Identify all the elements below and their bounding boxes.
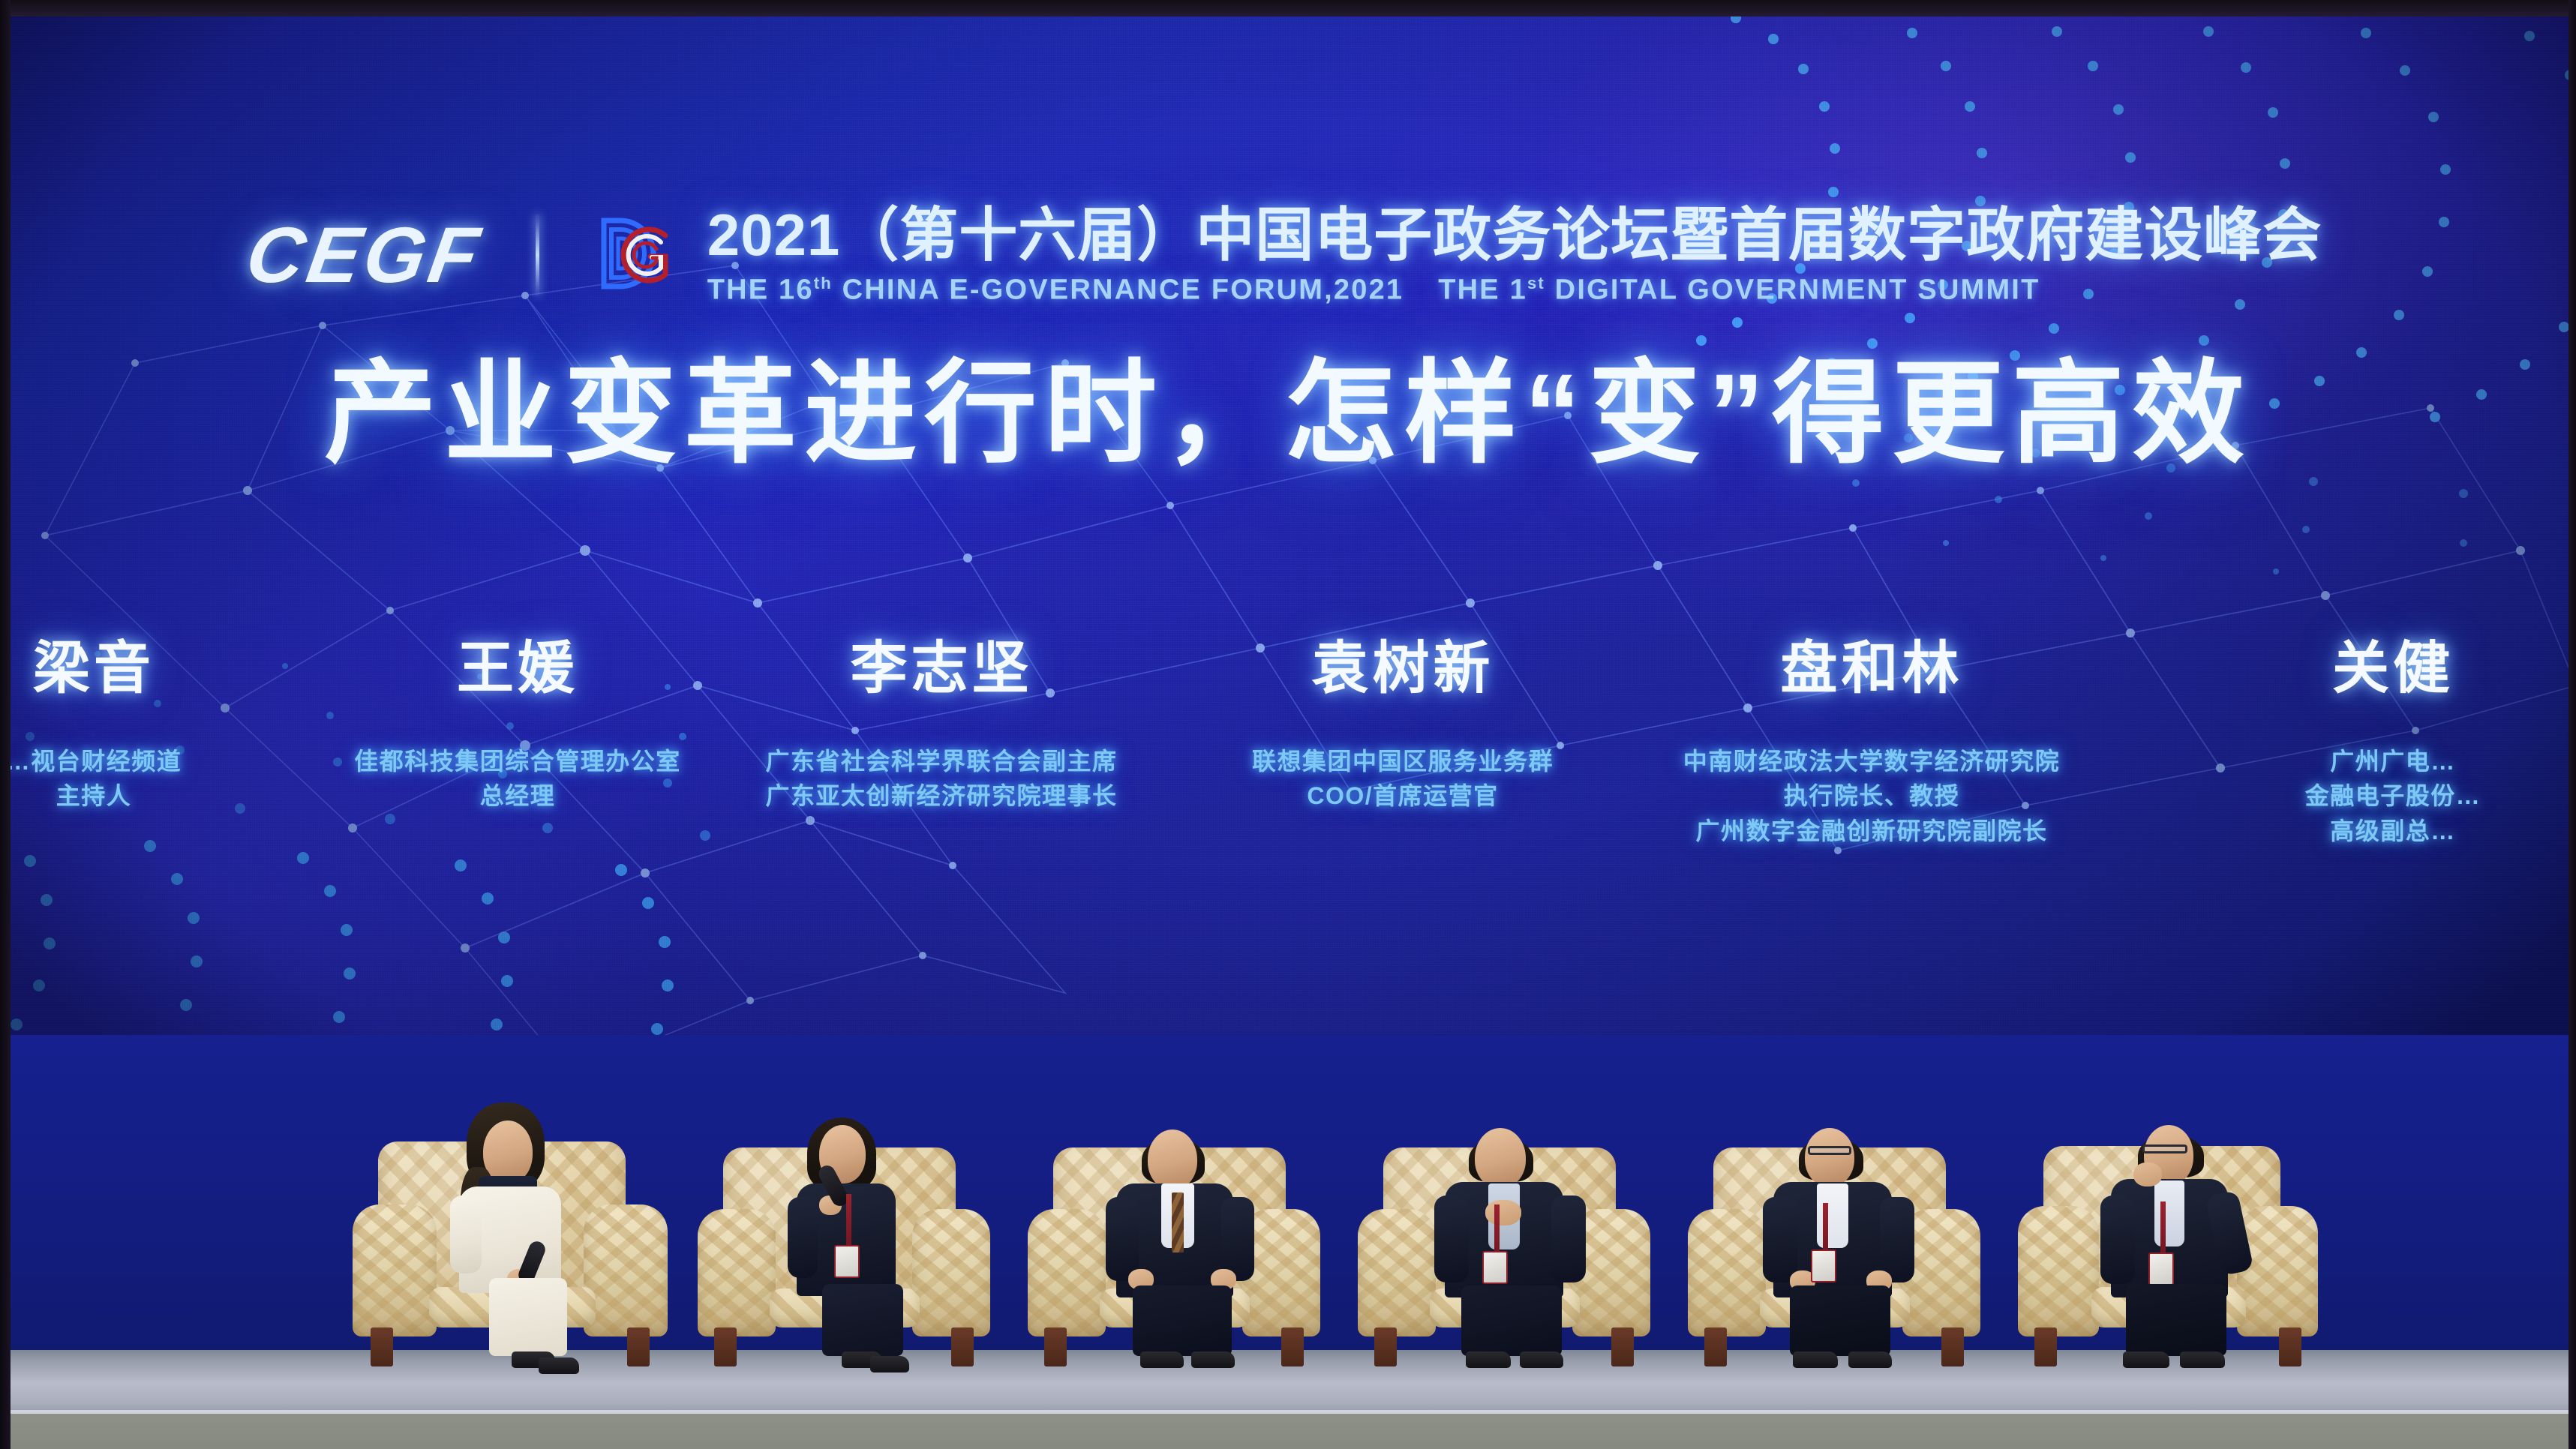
panelist-1-name: 王媛	[315, 640, 720, 697]
panelist-4-title-line-0: 中南财经政法大学数字经济研究院	[1643, 744, 2100, 778]
panelist-4-title-line-1: 执行院长、教授	[1643, 778, 2100, 813]
seat-5	[2018, 1123, 2318, 1366]
panelist-0-title-line-1: 主持人	[0, 778, 255, 813]
title-en-forum-sup: th	[814, 274, 833, 292]
panelist-4: 盘和林 中南财经政法大学数字经济研究院 执行院长、教授 广州数字金融创新研究院副…	[1643, 640, 2100, 848]
person-3-panelist	[1416, 1114, 1596, 1362]
title-en-forum-pre: THE 16	[707, 274, 814, 305]
panelist-5: 关健 广州广电… 金融电子股份… 高级副总…	[2160, 640, 2576, 848]
session-headline: 产业变革进行时，怎样“变”得更高效	[0, 352, 2576, 475]
cegf-logo: CEGF	[242, 216, 488, 295]
panelist-5-title: 广州广电… 金融电子股份… 高级副总…	[2160, 744, 2576, 848]
logo-divider	[536, 214, 539, 295]
person-4-panelist	[1745, 1114, 1925, 1362]
seat-1	[698, 1126, 990, 1366]
panelist-2: 李志坚 广东省社会科学界联合会副主席 广东亚太创新经济研究院理事长	[720, 640, 1163, 814]
panelist-0-title: …视台财经频道 主持人	[0, 744, 255, 814]
seat-4	[1688, 1126, 1980, 1366]
panelist-1-title-line-1: 总经理	[315, 778, 720, 813]
title-en-summit-pre: THE 1	[1438, 274, 1527, 305]
seat-0	[353, 1119, 668, 1366]
venue-right-edge	[2568, 0, 2576, 1449]
conference-panel-photo: CEGF 2021（第十六届）中国电子政务论坛暨首届数字政府建设峰会	[0, 0, 2576, 1449]
panelist-0: 梁音 …视台财经频道 主持人	[0, 640, 255, 814]
title-en-forum-post: CHINA E-GOVERNANCE FORUM,2021	[833, 274, 1404, 305]
panelist-1-title-line-0: 佳都科技集团综合管理办公室	[315, 744, 720, 778]
panelist-2-name: 李志坚	[720, 640, 1163, 697]
person-5-panelist	[2079, 1111, 2259, 1362]
person-1-speaker	[764, 1114, 929, 1362]
panelist-3-title-line-0: 联想集团中国区服务业务群	[1200, 744, 1605, 778]
panelist-2-title: 广东省社会科学界联合会副主席 广东亚太创新经济研究院理事长	[720, 744, 1163, 814]
panelist-4-title-line-2: 广州数字金融创新研究院副院长	[1643, 814, 2100, 848]
panelist-3-title: 联想集团中国区服务业务群 COO/首席运营官	[1200, 744, 1605, 814]
panelist-3: 袁树新 联想集团中国区服务业务群 COO/首席运营官	[1200, 640, 1605, 814]
panelist-3-title-line-1: COO/首席运营官	[1200, 778, 1605, 813]
panelist-0-name: 梁音	[0, 640, 255, 697]
panelist-5-title-line-0: 广州广电…	[2160, 744, 2576, 778]
event-title-block: 2021（第十六届）中国电子政务论坛暨首届数字政府建设峰会 THE 16th C…	[707, 204, 2322, 306]
panelist-4-name: 盘和林	[1643, 640, 2100, 697]
panelist-name-strip: 梁音 …视台财经频道 主持人 王媛 佳都科技集团综合管理办公室 总经理 李志坚 …	[0, 640, 2576, 910]
event-header: CEGF 2021（第十六届）中国电子政务论坛暨首届数字政府建设峰会	[248, 204, 2322, 306]
panelist-0-title-line-0: …视台财经频道	[0, 744, 255, 778]
panelist-3-name: 袁树新	[1200, 640, 1605, 697]
title-en-summit-post: DIGITAL GOVERNMENT SUMMIT	[1545, 274, 2040, 305]
event-title-en-summit: THE 1st DIGITAL GOVERNMENT SUMMIT	[1438, 274, 2040, 307]
title-en-summit-sup: st	[1527, 274, 1545, 292]
panelist-1: 王媛 佳都科技集团综合管理办公室 总经理	[315, 640, 720, 814]
panelist-2-title-line-1: 广东亚太创新经济研究院理事长	[720, 778, 1163, 813]
dg-logo-icon	[581, 208, 679, 301]
event-title-en-forum: THE 16th CHINA E-GOVERNANCE FORUM,2021	[707, 274, 1404, 307]
panelist-5-name: 关健	[2160, 640, 2576, 697]
panelist-5-title-line-1: 金融电子股份…	[2160, 778, 2576, 813]
eyeglasses-icon	[1808, 1146, 1851, 1155]
panelist-5-title-line-2: 高级副总…	[2160, 814, 2576, 848]
panelist-4-title: 中南财经政法大学数字经济研究院 执行院长、教授 广州数字金融创新研究院副院长	[1643, 744, 2100, 848]
event-title-en-row: THE 16th CHINA E-GOVERNANCE FORUM,2021 T…	[707, 274, 2322, 307]
seat-3	[1358, 1126, 1650, 1366]
person-2-panelist	[1086, 1114, 1266, 1362]
venue-left-edge	[0, 0, 11, 1449]
seat-2	[1028, 1126, 1320, 1366]
seated-panel-row	[0, 900, 2576, 1425]
person-0-host	[425, 1107, 597, 1362]
eyeglasses-icon	[2142, 1144, 2187, 1153]
panelist-1-title: 佳都科技集团综合管理办公室 总经理	[315, 744, 720, 814]
venue-ceiling-edge	[0, 0, 2576, 16]
panelist-2-title-line-0: 广东省社会科学界联合会副主席	[720, 744, 1163, 778]
event-title-cn: 2021（第十六届）中国电子政务论坛暨首届数字政府建设峰会	[707, 204, 2322, 266]
